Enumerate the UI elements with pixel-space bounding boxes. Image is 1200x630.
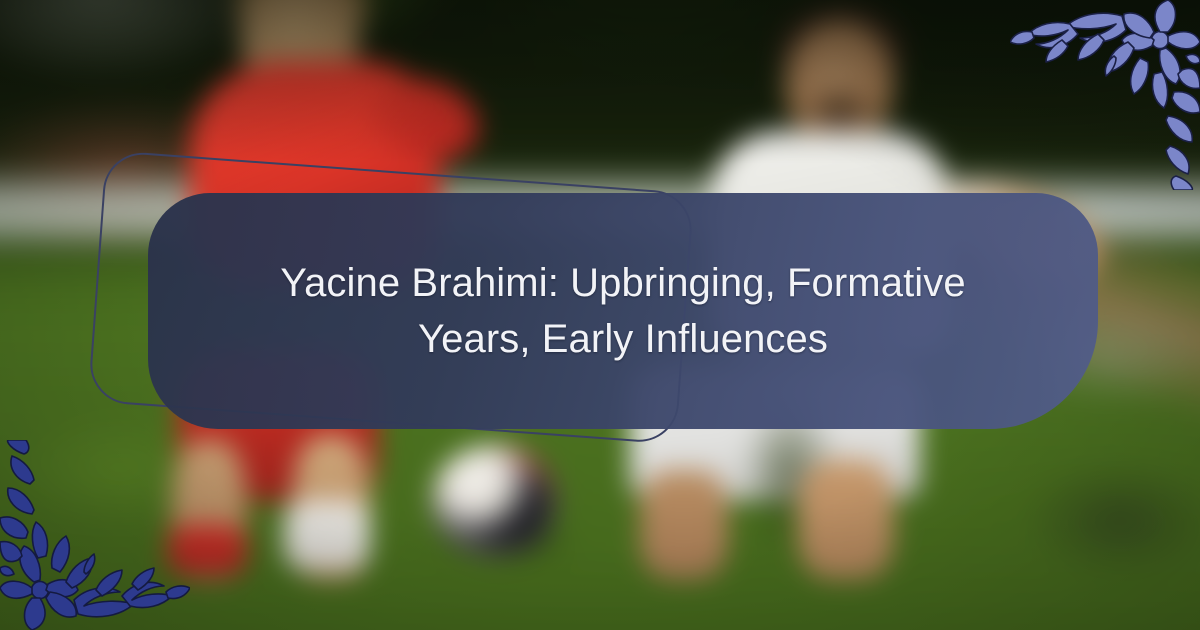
photo-left-player-sock-left [284, 500, 370, 570]
photo-right-player-leg-left [640, 470, 728, 580]
photo-soccer-ball [432, 445, 558, 557]
photo-left-player-sock-right [168, 525, 246, 575]
page-title: Yacine Brahimi: Upbringing, Formative Ye… [228, 255, 1018, 367]
photo-right-player-leg-right [798, 460, 894, 580]
share-card-canvas: Yacine Brahimi: Upbringing, Formative Ye… [0, 0, 1200, 630]
title-card: Yacine Brahimi: Upbringing, Formative Ye… [148, 193, 1098, 429]
